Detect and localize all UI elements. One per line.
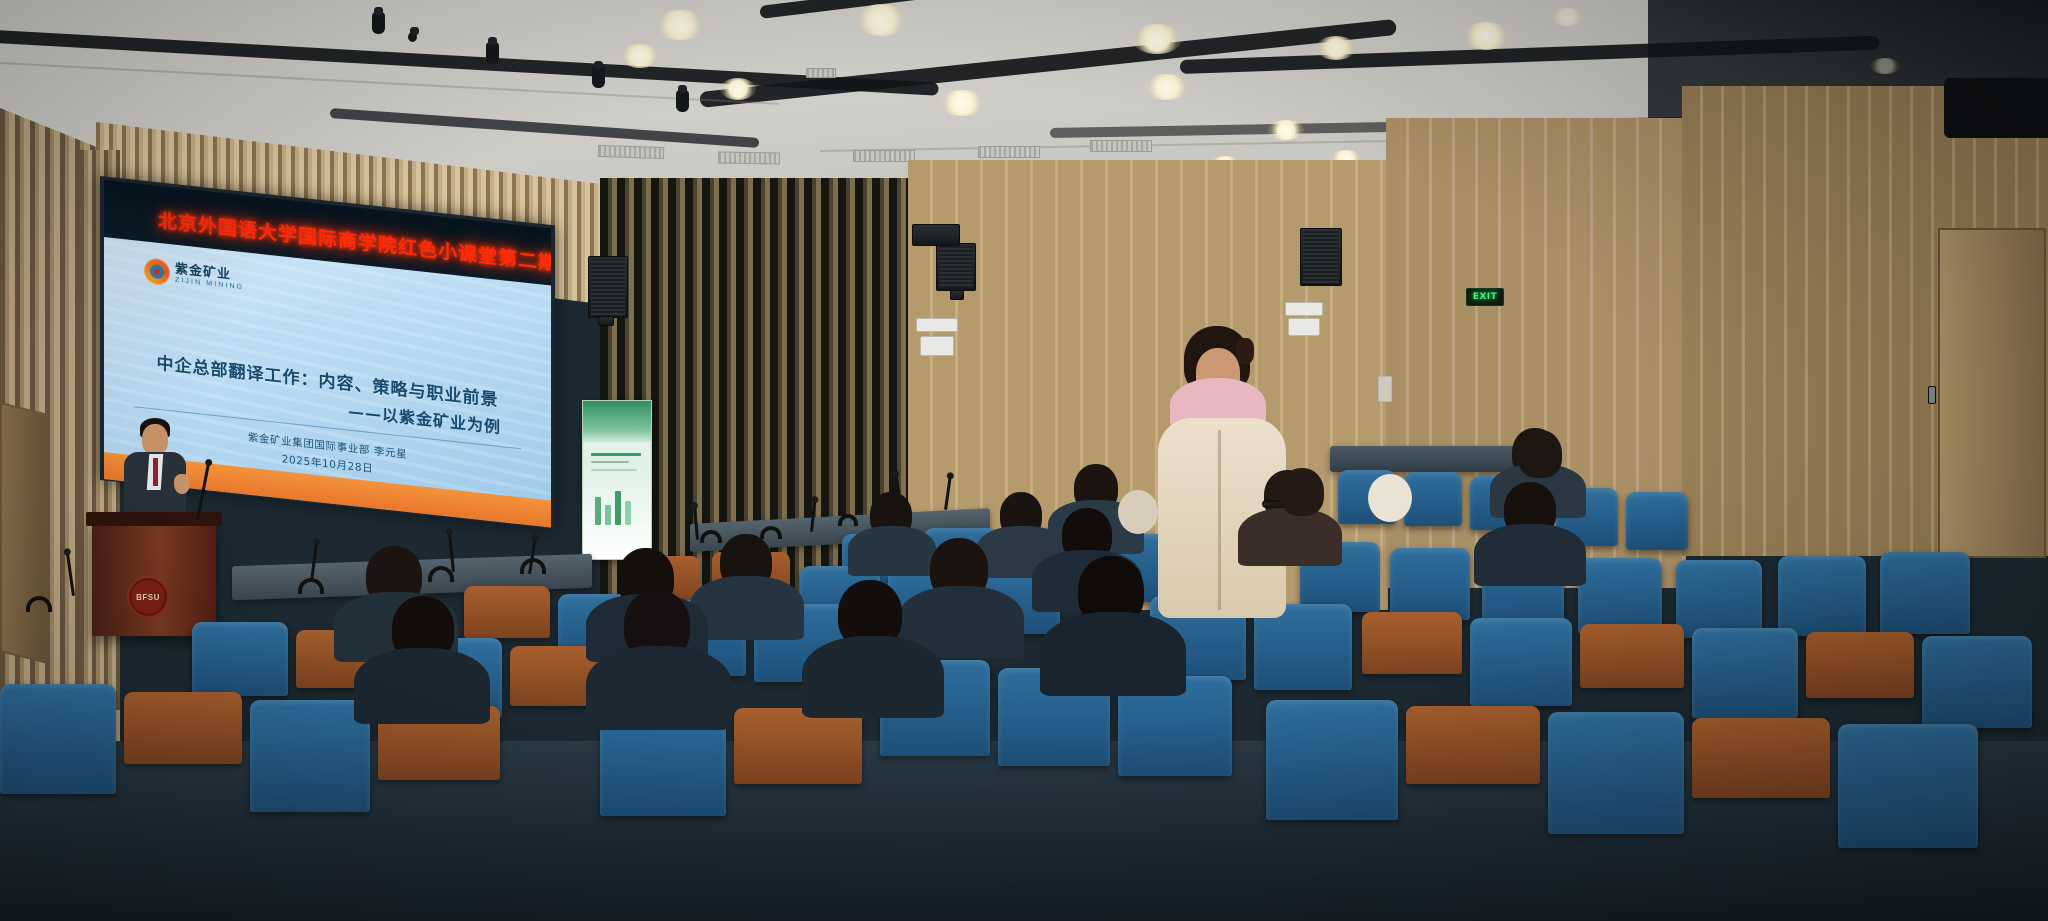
standing-woman-hair-clip (1236, 338, 1254, 364)
seat-rowE-wood-8[interactable] (1406, 706, 1540, 784)
ceiling-vent-6 (806, 68, 836, 78)
downlight-10 (1268, 120, 1304, 140)
seat-rowE-wood-6[interactable] (734, 708, 862, 784)
rollup-banner-line-1 (591, 453, 641, 456)
wall-speaker-left-grille (591, 259, 625, 315)
downlight-2 (855, 4, 907, 36)
downlight-6 (720, 78, 756, 100)
rollup-banner-line-2 (591, 461, 629, 463)
track-spotlight-2 (486, 42, 499, 64)
seat-rowA-8[interactable] (1578, 558, 1662, 634)
wall-monitor-center (936, 243, 976, 291)
wall-notice-1 (916, 318, 958, 332)
audience-shoulders-12 (354, 648, 490, 724)
downlight-3 (1132, 24, 1182, 54)
wall-speaker-left (588, 256, 628, 318)
seat-rowC-wood-7[interactable] (1362, 612, 1462, 674)
zijin-logo: 紫金矿业 ZIJIN MINING (144, 257, 244, 294)
audience-shoulders-15 (586, 646, 732, 730)
seat-rowE-1[interactable] (0, 684, 116, 794)
wall-notice-2 (920, 336, 954, 356)
downlight-4 (1462, 22, 1510, 50)
seat-rowE-7[interactable] (1266, 700, 1398, 820)
seat-rowE-wood-2[interactable] (124, 692, 242, 764)
side-door-right[interactable] (1938, 228, 2046, 558)
audience-head-18 (1518, 430, 1562, 478)
audience-shoulders-8 (1474, 524, 1586, 586)
door-handle-right[interactable] (1928, 386, 1936, 404)
zijin-logo-icon (144, 257, 170, 286)
speaker-tie (153, 458, 158, 486)
ceiling-vent-1 (598, 145, 664, 159)
ceiling-vent-3 (853, 150, 915, 162)
track-spotlight-4 (676, 90, 689, 112)
downlight-22 (1550, 8, 1584, 26)
seat-rowC-8[interactable] (1470, 618, 1572, 706)
speaker-hand (174, 474, 190, 494)
seat-rowC-12[interactable] (1922, 636, 2032, 728)
wall-monitor-bracket (950, 290, 964, 300)
seat-rowE-3[interactable] (250, 700, 370, 812)
audience-head-19 (1118, 490, 1158, 534)
ceiling-vent-5 (1090, 140, 1152, 152)
downlight-5 (620, 44, 660, 68)
audience-shoulders-14 (1040, 612, 1186, 696)
seat-rowA-6[interactable] (1390, 548, 1470, 620)
wall-speaker-bracket (598, 316, 614, 326)
seat-rowE-11[interactable] (1838, 724, 1978, 848)
seat-rowD-1[interactable] (192, 622, 288, 696)
speaker-head (142, 424, 168, 455)
audience-shoulders-16 (802, 636, 944, 718)
seat-rowC-wood-9[interactable] (1580, 624, 1684, 688)
downlight-21 (1870, 58, 1900, 74)
seat-rowA-9[interactable] (1676, 560, 1762, 638)
podium-top-surface (86, 512, 222, 526)
seat-rowC-wood-1[interactable] (464, 586, 550, 638)
rollup-banner-chart (595, 497, 601, 525)
wall-speaker-right (1300, 228, 1342, 286)
rollup-banner-header (583, 401, 651, 442)
side-door-left[interactable] (0, 402, 46, 663)
audience-shoulders-2 (1238, 508, 1342, 566)
track-spotlight-1 (372, 12, 385, 34)
seat-rowA-11[interactable] (1880, 552, 1970, 634)
wall-camera-box (912, 224, 960, 246)
seat-rowC-wood-11[interactable] (1806, 632, 1914, 698)
seat-far-5[interactable] (1626, 492, 1688, 550)
rollup-banner (582, 400, 652, 560)
downlight-1 (655, 10, 705, 40)
ceiling-vent-2 (718, 151, 780, 164)
wall-notice-4 (1288, 318, 1320, 336)
ceiling-soffit-right (1944, 78, 2048, 138)
rollup-banner-line-3 (591, 469, 637, 471)
track-spotlight-3 (592, 66, 605, 88)
standing-woman-coat-seam (1218, 430, 1221, 610)
audience-shoulders-4 (848, 526, 936, 576)
ceiling-vent-4 (978, 146, 1040, 158)
audience-head-17 (1280, 468, 1324, 516)
auditorium-photo: 北京外国语大学国际商学院红色小课堂第二期 紫金矿业 ZIJIN MINING 中… (0, 0, 2048, 921)
wall-notice-5 (1378, 376, 1392, 402)
wall-speaker-right-grille (1303, 231, 1339, 283)
seat-far-2[interactable] (1404, 472, 1462, 526)
exit-sign: EXIT (1466, 288, 1504, 306)
track-spotlight-5 (408, 32, 417, 42)
exit-sign-label: EXIT (1473, 292, 1498, 302)
rollup-banner-chart-4 (625, 501, 631, 525)
downlight-7 (940, 90, 984, 116)
wall-notice-3 (1285, 302, 1323, 316)
seat-rowC-10[interactable] (1692, 628, 1798, 718)
downlight-9 (1316, 36, 1356, 60)
seat-rowE-wood-10[interactable] (1692, 718, 1830, 798)
wall-monitor-center-grille (939, 246, 973, 288)
downlight-8 (1145, 74, 1189, 100)
bfsu-emblem-label: BFSU (136, 593, 160, 602)
audience-head-6 (1368, 474, 1412, 522)
seat-rowA-10[interactable] (1778, 556, 1866, 636)
bfsu-emblem: BFSU (127, 576, 169, 618)
seat-rowE-9[interactable] (1548, 712, 1684, 834)
rollup-banner-chart-2 (605, 505, 611, 525)
rollup-banner-chart-3 (615, 491, 621, 525)
